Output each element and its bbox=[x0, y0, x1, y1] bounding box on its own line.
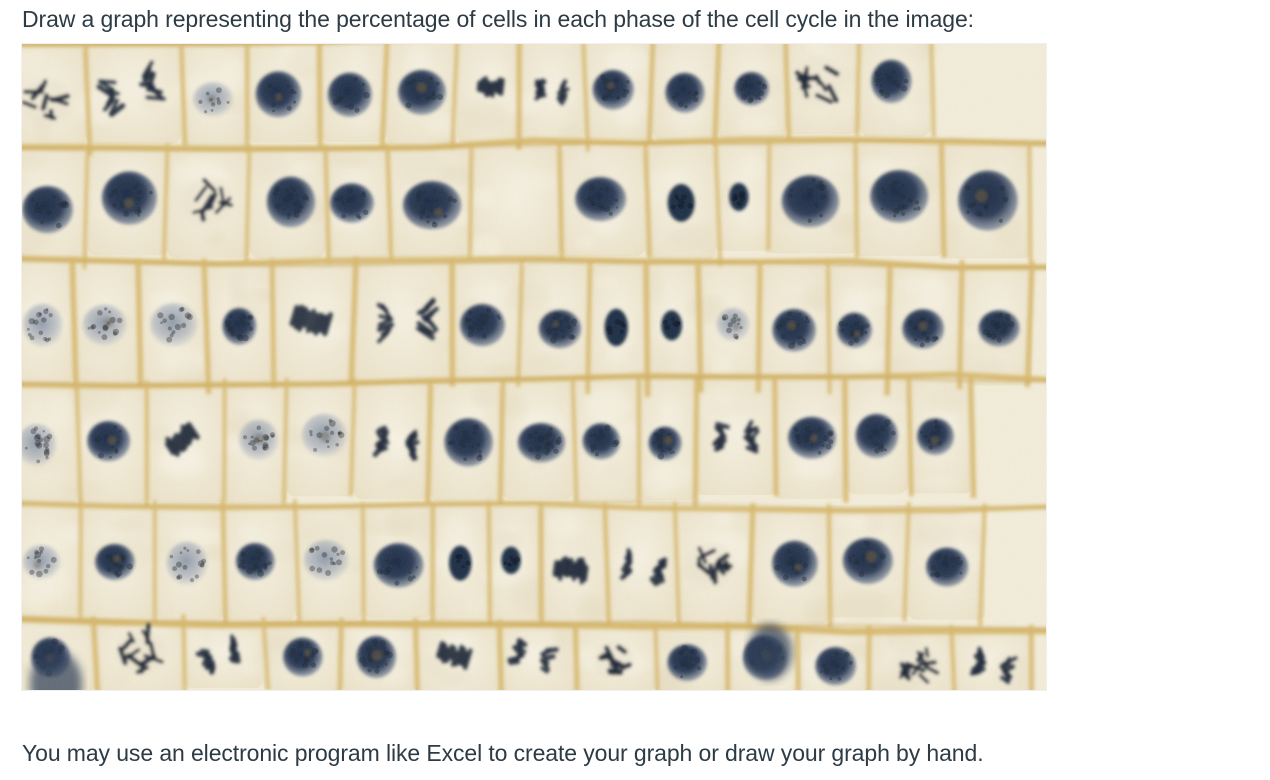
instruction-text-top: Draw a graph representing the percentage… bbox=[22, 4, 974, 34]
instruction-text-bottom: You may use an electronic program like E… bbox=[22, 738, 984, 768]
page-root: Draw a graph representing the percentage… bbox=[0, 0, 1270, 780]
onion-root-tip-micrograph bbox=[22, 44, 1046, 690]
micrograph-canvas bbox=[22, 44, 1046, 690]
